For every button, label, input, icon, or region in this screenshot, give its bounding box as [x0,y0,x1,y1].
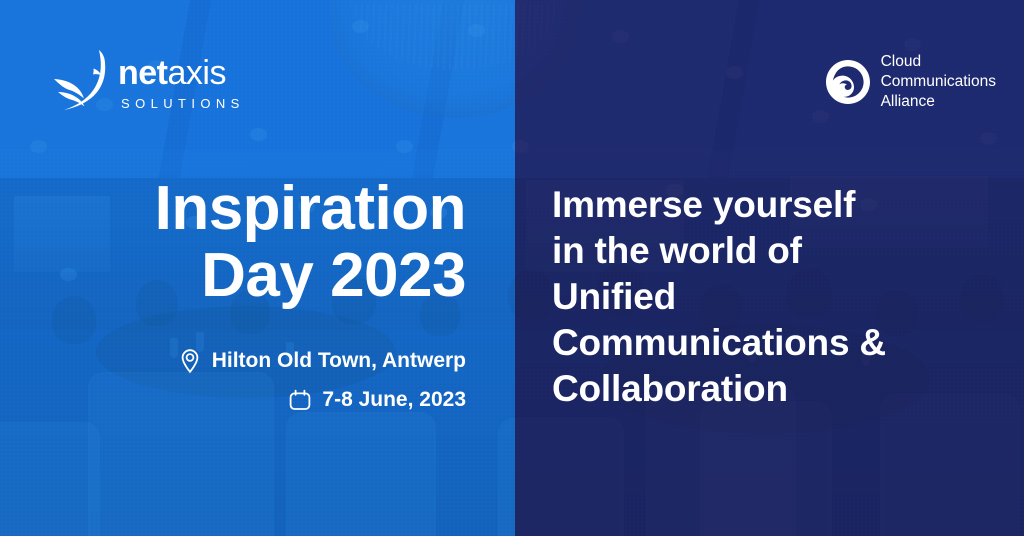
bird-swoosh-icon [52,48,114,118]
title-line-2: Day 2023 [0,243,466,310]
netaxis-tagline: SOLUTIONS [118,97,245,110]
event-title-block: Inspiration Day 2023 Hilton Old Town, An… [0,176,466,413]
cca-wordmark: Cloud Communications Alliance [881,52,996,111]
headline-line-1: Immerse yourself [552,182,962,228]
event-meta: Hilton Old Town, Antwerp 7-8 June, 2023 [0,348,466,413]
event-headline-block: Immerse yourself in the world of Unified… [552,182,962,411]
headline-line-4: Communications & [552,320,962,366]
headline-line-2: in the world of [552,228,962,274]
page-title: Inspiration Day 2023 [0,176,466,310]
event-banner: netaxis SOLUTIONS Cloud Communications A… [0,0,1024,536]
calendar-icon [287,387,313,413]
event-location: Hilton Old Town, Antwerp [0,348,466,374]
title-line-1: Inspiration [0,176,466,243]
netaxis-name-bold: net [118,54,168,92]
netaxis-logo[interactable]: netaxis SOLUTIONS [52,48,245,118]
netaxis-name-light: axis [168,54,226,92]
cca-line-1: Cloud [881,52,996,72]
date-label: 7-8 June, 2023 [322,388,466,412]
spiral-circle-icon [826,60,870,104]
cca-line-2: Communications [881,72,996,92]
cca-logo[interactable]: Cloud Communications Alliance [826,52,996,111]
netaxis-wordmark: netaxis [118,56,245,90]
map-pin-icon [177,348,203,374]
headline: Immerse yourself in the world of Unified… [552,182,962,411]
location-label: Hilton Old Town, Antwerp [212,349,466,373]
headline-line-5: Collaboration [552,366,962,412]
headline-line-3: Unified [552,274,962,320]
event-date: 7-8 June, 2023 [0,387,466,413]
cca-line-3: Alliance [881,92,996,112]
